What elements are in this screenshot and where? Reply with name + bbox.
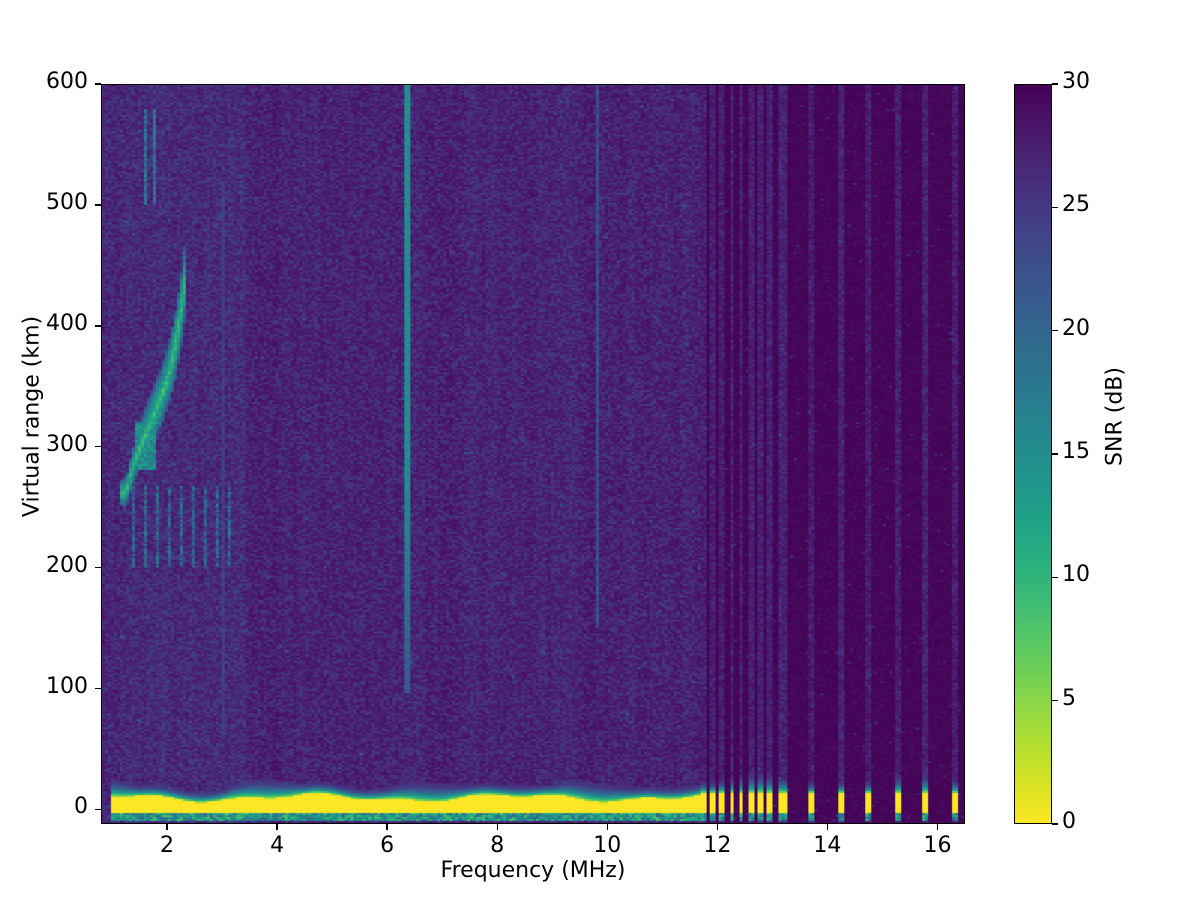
x-axis-label: Frequency (MHz) <box>101 858 965 883</box>
x-tick-mark <box>937 824 938 830</box>
colorbar-tick-mark <box>1052 453 1058 454</box>
colorbar-tick-label: 20 <box>1062 316 1090 341</box>
ionogram-plot-area <box>101 84 965 824</box>
y-axis-label: Virtual range (km) <box>20 157 45 677</box>
colorbar-tick-mark <box>1052 577 1058 578</box>
y-tick-label: 100 <box>0 674 88 699</box>
x-tick-mark <box>607 824 608 830</box>
figure-canvas: IRF Uppsala SDR Ionosonde UP158 2025-10-… <box>0 0 1200 900</box>
x-tick-mark <box>166 824 167 830</box>
y-tick-label: 0 <box>0 794 88 819</box>
x-tick-mark <box>717 824 718 830</box>
ionogram-heatmap <box>102 85 964 823</box>
colorbar-tick-label: 10 <box>1062 562 1090 587</box>
colorbar-tick-label: 0 <box>1062 809 1076 834</box>
y-tick-mark <box>95 204 101 205</box>
colorbar-tick-label: 30 <box>1062 69 1090 94</box>
y-tick-mark <box>95 688 101 689</box>
x-tick-label: 12 <box>682 833 752 858</box>
y-tick-mark <box>95 446 101 447</box>
colorbar-tick-mark <box>1052 83 1058 84</box>
colorbar-tick-label: 5 <box>1062 686 1076 711</box>
colorbar <box>1014 84 1052 824</box>
y-tick-mark <box>95 325 101 326</box>
colorbar-tick-mark <box>1052 700 1058 701</box>
x-tick-label: 10 <box>572 833 642 858</box>
colorbar-tick-mark <box>1052 823 1058 824</box>
colorbar-tick-label: 15 <box>1062 439 1090 464</box>
x-tick-label: 6 <box>352 833 422 858</box>
colorbar-tick-mark <box>1052 207 1058 208</box>
x-tick-mark <box>827 824 828 830</box>
x-tick-mark <box>276 824 277 830</box>
colorbar-tick-mark <box>1052 330 1058 331</box>
x-tick-label: 2 <box>132 833 202 858</box>
y-tick-mark <box>95 567 101 568</box>
x-tick-mark <box>497 824 498 830</box>
x-tick-label: 4 <box>242 833 312 858</box>
colorbar-tick-label: 25 <box>1062 192 1090 217</box>
y-tick-mark <box>95 83 101 84</box>
y-tick-label: 600 <box>0 69 88 94</box>
y-tick-mark <box>95 809 101 810</box>
x-tick-label: 8 <box>462 833 532 858</box>
colorbar-label: SNR (dB) <box>1103 237 1128 597</box>
colorbar-gradient <box>1015 85 1051 823</box>
x-tick-mark <box>386 824 387 830</box>
x-tick-label: 16 <box>902 833 972 858</box>
x-tick-label: 14 <box>792 833 862 858</box>
